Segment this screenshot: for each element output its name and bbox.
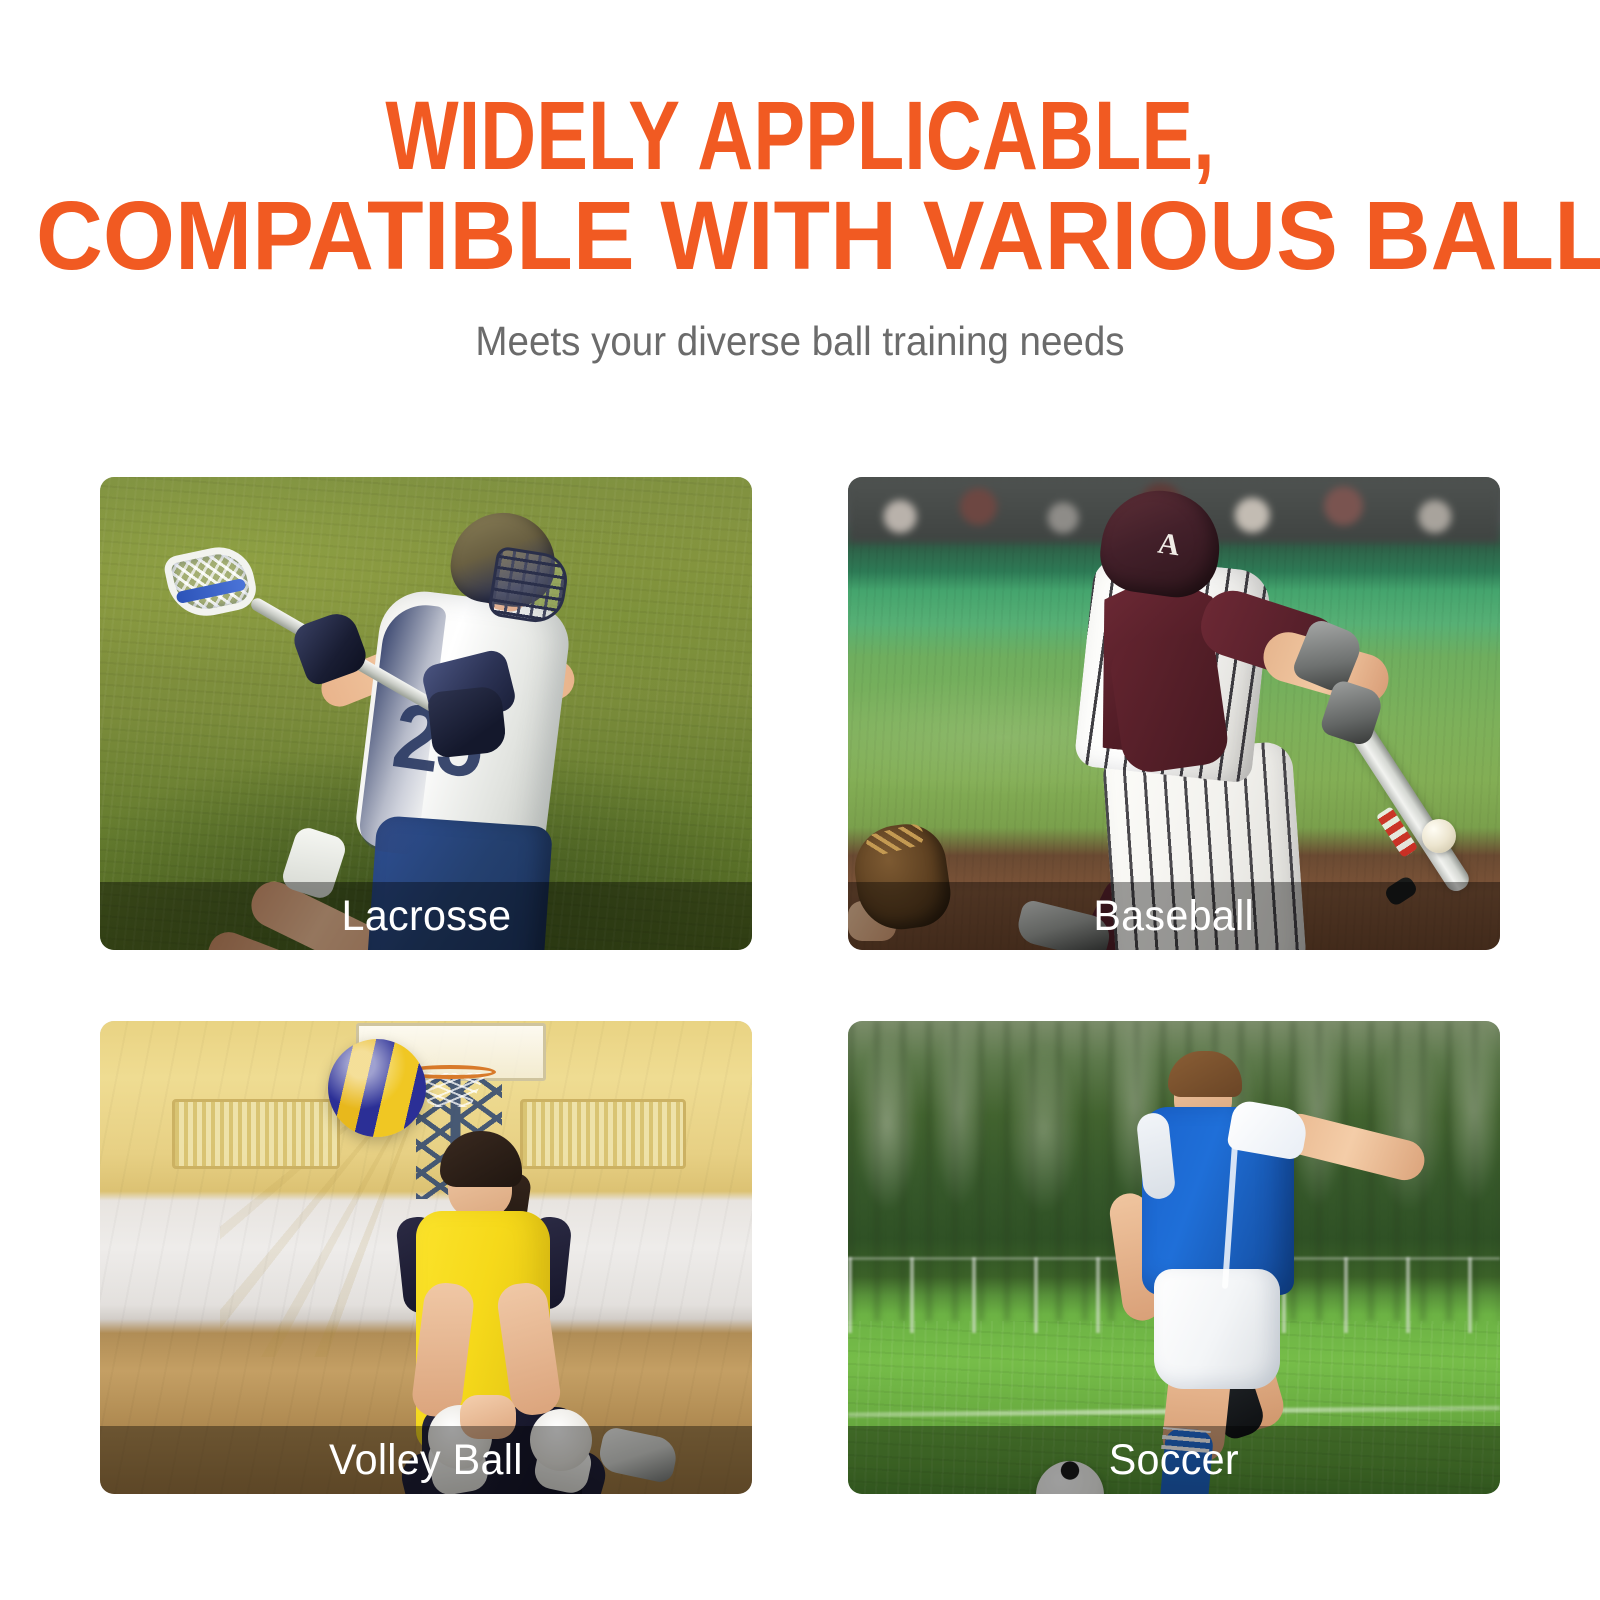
sport-card-baseball[interactable]: A Baseball bbox=[848, 477, 1500, 950]
baseball-photo: A bbox=[848, 477, 1500, 950]
volleyball bbox=[328, 1039, 426, 1137]
player-white-shorts bbox=[1154, 1269, 1280, 1389]
player-right-glove bbox=[427, 685, 507, 758]
headline-line-2: COMPATIBLE WITH VARIOUS BALL SPORTS bbox=[36, 186, 1564, 286]
headline-line-1: WIDELY APPLICABLE, bbox=[160, 86, 1440, 186]
wall-radiator-right bbox=[520, 1099, 686, 1169]
helmet-logo: A bbox=[1156, 527, 1196, 566]
infographic-page: WIDELY APPLICABLE, COMPATIBLE WITH VARIO… bbox=[0, 0, 1600, 1600]
volleyball-photo bbox=[100, 1021, 752, 1494]
baseball bbox=[1422, 819, 1456, 853]
batter-left-sleeve bbox=[1107, 630, 1230, 775]
subtitle: Meets your diverse ball training needs bbox=[48, 316, 1552, 366]
sport-card-volleyball[interactable]: Volley Ball bbox=[100, 1021, 752, 1494]
sport-card-soccer[interactable]: Soccer bbox=[848, 1021, 1500, 1494]
sports-card-grid: 25 Lacrosse bbox=[100, 477, 1500, 1494]
card-caption-bar: Baseball bbox=[848, 882, 1500, 950]
lacrosse-photo: 25 bbox=[100, 477, 752, 950]
sport-card-lacrosse[interactable]: 25 Lacrosse bbox=[100, 477, 752, 950]
card-caption-bar: Volley Ball bbox=[100, 1426, 752, 1494]
card-caption-label: Lacrosse bbox=[341, 892, 511, 940]
header: WIDELY APPLICABLE, COMPATIBLE WITH VARIO… bbox=[0, 86, 1600, 366]
card-caption-label: Volley Ball bbox=[329, 1436, 523, 1484]
card-caption-bar: Lacrosse bbox=[100, 882, 752, 950]
wall-radiator-left bbox=[172, 1099, 340, 1169]
card-caption-label: Soccer bbox=[1109, 1436, 1239, 1484]
card-caption-bar: Soccer bbox=[848, 1426, 1500, 1494]
soccer-photo bbox=[848, 1021, 1500, 1494]
card-caption-label: Baseball bbox=[1094, 892, 1255, 940]
